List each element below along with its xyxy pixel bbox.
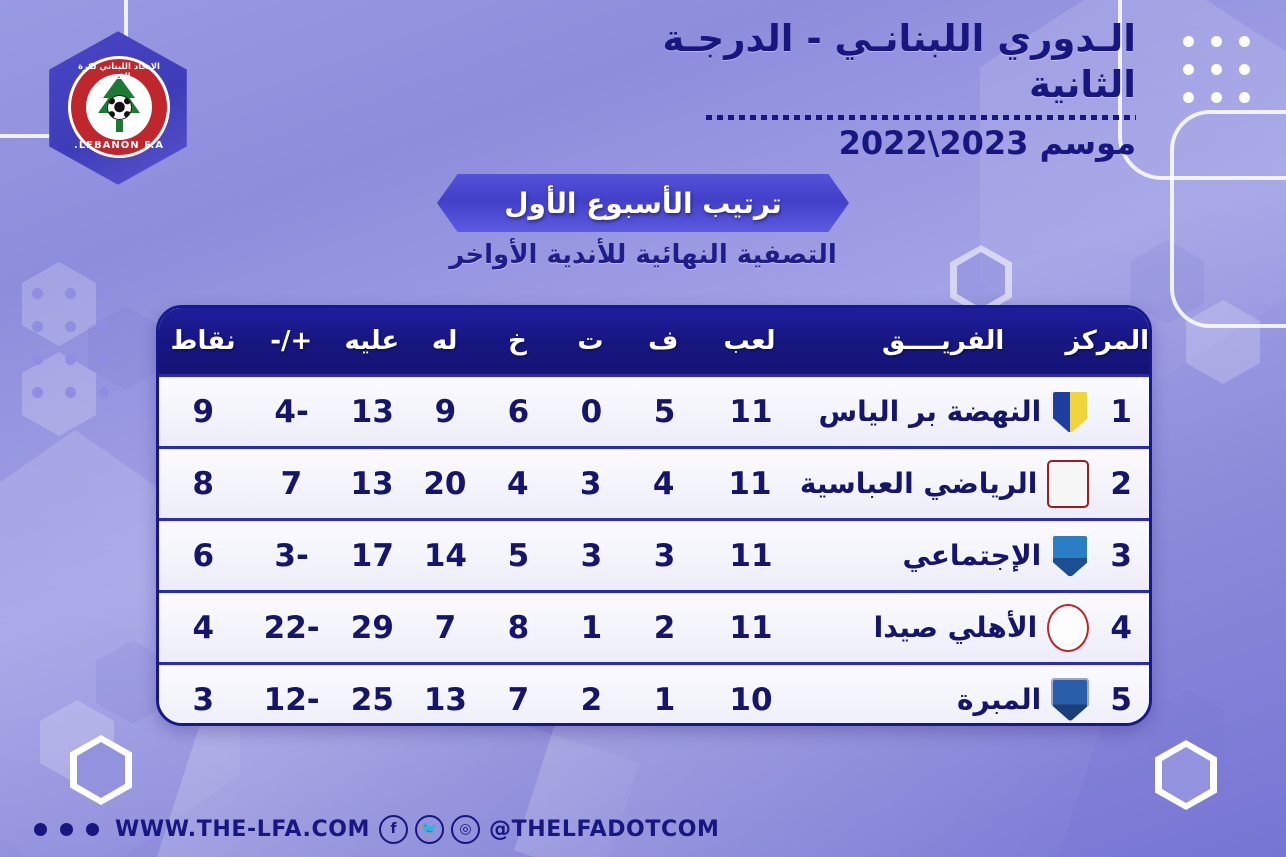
row-team-name: الرياضي العباسية <box>800 467 1038 500</box>
row-won: 3 <box>628 538 701 574</box>
row-team-name: الأهلي صيدا <box>874 611 1038 644</box>
table-row[interactable]: 1 النهضة بر الياس 11 5 0 6 9 13 -4 9 <box>159 377 1149 449</box>
row-team-name: المبرة <box>957 683 1041 716</box>
row-team: المبرة <box>801 678 1093 722</box>
dot-grid-top-right <box>1183 36 1250 103</box>
row-won: 2 <box>628 610 701 646</box>
footer-social-icons: f 🐦 ◎ <box>379 815 480 844</box>
row-diff: -22 <box>247 610 335 646</box>
row-points: 9 <box>159 394 247 430</box>
row-diff: 7 <box>247 466 335 502</box>
row-played: 11 <box>700 466 800 502</box>
table-header-row: المركز الفريــــق لعب ف ت خ له عليه +/- … <box>159 308 1149 377</box>
row-team-name: النهضة بر الياس <box>819 395 1042 428</box>
hexagon-outline-left <box>70 735 132 805</box>
row-team: النهضة بر الياس <box>801 390 1093 434</box>
row-lost: 7 <box>482 682 555 718</box>
season-label: موسم 2023\2022 <box>576 124 1136 162</box>
ahli-saida-crest-icon <box>1047 604 1089 652</box>
instagram-icon[interactable]: ◎ <box>451 815 480 844</box>
lebanon-fa-logo: الاتحاد اللبناني لكرة القدم LEBANON F.A. <box>38 28 198 188</box>
row-drawn: 3 <box>555 538 628 574</box>
column-header-ga: عليه <box>335 326 408 356</box>
row-gf: 20 <box>408 466 481 502</box>
column-header-lost: خ <box>481 326 554 356</box>
row-diff: -3 <box>247 538 335 574</box>
facebook-icon[interactable]: f <box>379 815 408 844</box>
row-team-name: الإجتماعي <box>902 539 1041 572</box>
row-diff: -4 <box>247 394 335 430</box>
row-gf: 13 <box>409 682 482 718</box>
hexagon-outline-bottom-right <box>1155 740 1217 810</box>
football-icon <box>107 95 132 120</box>
row-ga: 13 <box>336 466 409 502</box>
row-gf: 7 <box>409 610 482 646</box>
row-diff: -12 <box>247 682 335 718</box>
row-gf: 9 <box>409 394 482 430</box>
row-drawn: 0 <box>555 394 628 430</box>
table-row[interactable]: 2 الرياضي العباسية 11 4 3 4 20 13 7 8 <box>159 449 1149 521</box>
column-header-points: نقاط <box>159 326 247 356</box>
row-played: 11 <box>701 610 801 646</box>
row-won: 4 <box>627 466 700 502</box>
ribbon-label: ترتيب الأسبوع الأول <box>504 187 782 220</box>
row-lost: 8 <box>482 610 555 646</box>
week-standings-ribbon: ترتيب الأسبوع الأول <box>437 174 849 232</box>
row-won: 5 <box>628 394 701 430</box>
row-team: الأهلي صيدا <box>801 604 1093 652</box>
row-ga: 13 <box>336 394 409 430</box>
mabarra-crest-icon <box>1051 678 1089 722</box>
footer-dots <box>34 823 99 836</box>
cedar-trunk-icon <box>116 120 123 132</box>
column-header-gf: له <box>408 326 481 356</box>
row-drawn: 2 <box>555 682 628 718</box>
row-rank: 3 <box>1093 538 1149 574</box>
footer-bar: WWW.THE-LFA.COM f 🐦 ◎ @THELFADOTCOM <box>0 801 1286 857</box>
row-ga: 29 <box>336 610 409 646</box>
standings-table: المركز الفريــــق لعب ف ت خ له عليه +/- … <box>156 305 1152 726</box>
subtitle: التصفية النهائية للأندية الأواخر <box>233 240 1053 270</box>
crest-arabic-text: الاتحاد اللبناني لكرة القدم <box>68 62 170 82</box>
row-points: 3 <box>159 682 247 718</box>
row-drawn: 1 <box>555 610 628 646</box>
league-title: الـدوري اللبنانـي - الدرجـة الثانية <box>576 16 1136 109</box>
column-header-rank: المركز <box>1091 326 1149 356</box>
row-rank: 4 <box>1093 610 1149 646</box>
standings-poster: الاتحاد اللبناني لكرة القدم LEBANON F.A.… <box>0 0 1286 857</box>
row-won: 1 <box>628 682 701 718</box>
row-ga: 17 <box>336 538 409 574</box>
footer-website[interactable]: WWW.THE-LFA.COM <box>115 817 370 842</box>
row-lost: 6 <box>482 394 555 430</box>
row-gf: 14 <box>409 538 482 574</box>
column-header-diff: +/- <box>247 326 335 356</box>
crest-inner-circle <box>86 74 152 140</box>
riyadi-abbasiyah-crest-icon <box>1047 460 1089 508</box>
row-rank: 1 <box>1093 394 1149 430</box>
dot-grid-left <box>32 288 109 398</box>
row-team: الرياضي العباسية <box>800 460 1094 508</box>
row-lost: 5 <box>482 538 555 574</box>
row-points: 4 <box>159 610 247 646</box>
column-header-team-label: الفريــــق <box>799 326 1087 356</box>
row-ga: 25 <box>336 682 409 718</box>
footer-handle[interactable]: @THELFADOTCOM <box>489 817 720 842</box>
column-header-played: لعب <box>700 326 800 356</box>
federation-crest: الاتحاد اللبناني لكرة القدم LEBANON F.A. <box>68 56 170 158</box>
table-row[interactable]: 4 الأهلي صيدا 11 2 1 8 7 29 -22 4 <box>159 593 1149 665</box>
row-rank: 2 <box>1093 466 1149 502</box>
row-rank: 5 <box>1093 682 1149 718</box>
row-team: الإجتماعي <box>801 534 1093 578</box>
twitter-icon[interactable]: 🐦 <box>415 815 444 844</box>
ijtimaii-crest-icon <box>1051 534 1089 578</box>
nahda-bar-elias-crest-icon <box>1051 390 1089 434</box>
row-played: 11 <box>701 394 801 430</box>
row-played: 11 <box>701 538 801 574</box>
table-row[interactable]: 3 الإجتماعي 11 3 3 5 14 17 -3 6 <box>159 521 1149 593</box>
column-header-drawn: ت <box>554 326 627 356</box>
table-row[interactable]: 5 المبرة 10 1 2 7 13 25 -12 3 <box>159 665 1149 726</box>
title-block: الـدوري اللبنانـي - الدرجـة الثانية موسم… <box>576 16 1136 162</box>
row-lost: 4 <box>481 466 554 502</box>
row-drawn: 3 <box>554 466 627 502</box>
column-header-team: الفريــــق <box>799 326 1091 356</box>
row-points: 6 <box>159 538 247 574</box>
column-header-won: ف <box>627 326 700 356</box>
row-played: 10 <box>701 682 801 718</box>
crest-english-text: LEBANON F.A. <box>68 140 170 151</box>
dashed-divider <box>706 115 1136 120</box>
row-points: 8 <box>159 466 247 502</box>
